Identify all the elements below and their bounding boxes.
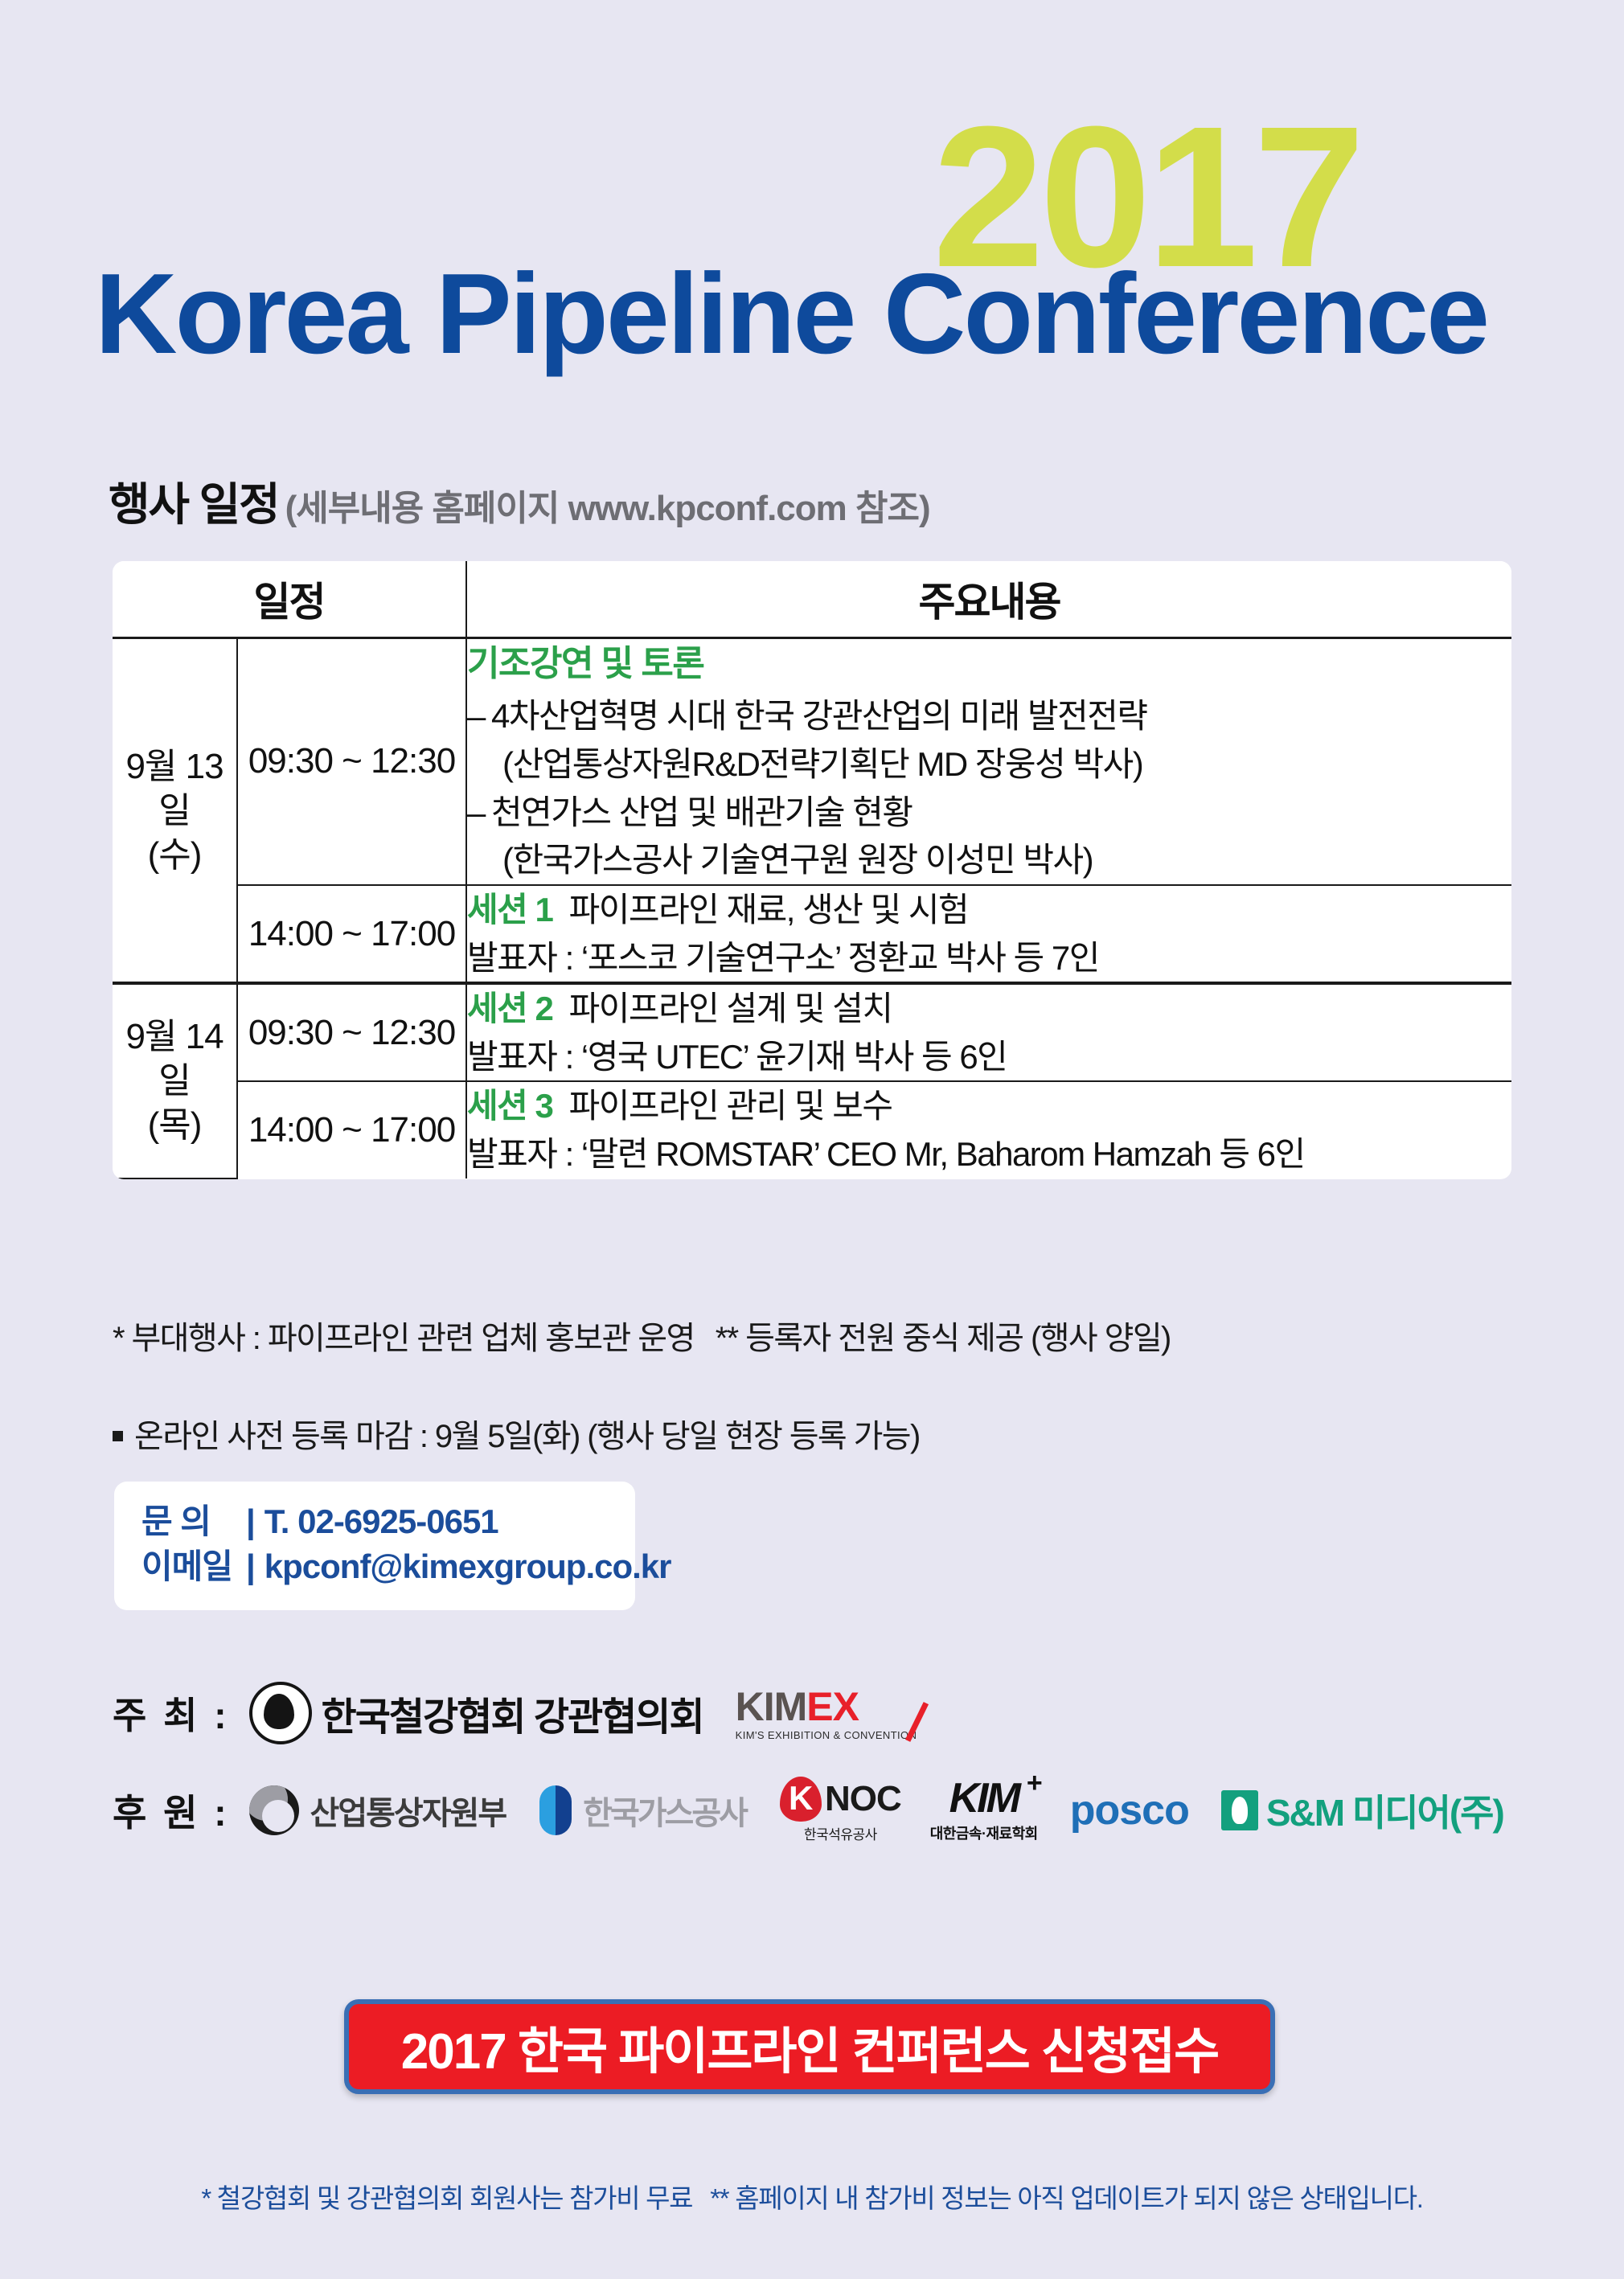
- table-row: 14:00 ~ 17:00 세션 1 파이프라인 재료, 생산 및 시험 발표자…: [113, 885, 1511, 983]
- footer-notes: * 철강협회 및 강관협의회 회원사는 참가비 무료** 홈페이지 내 참가비 …: [0, 2177, 1624, 2215]
- keynote-bullet-1-sub: (산업통상자원R&D전략기획단 MD 장웅성 박사): [467, 740, 1511, 789]
- keynote-bullet-2: –천연가스 산업 및 배관기술 현황: [467, 789, 1511, 837]
- contact-email-label: 이메일: [141, 1544, 236, 1589]
- table-row: 9월 14일 (목) 09:30 ~ 12:30 세션 2 파이프라인 설계 및…: [113, 983, 1511, 1081]
- sponsor-row: 후 원 : 산업통상자원부 한국가스공사 NOC 한국석유공사 KIM + 대한…: [113, 1777, 1503, 1843]
- sm-media-text: S&M 미디어(주): [1266, 1784, 1503, 1837]
- column-header-content: 주요내용: [466, 561, 1511, 638]
- knoc-subtext: 한국석유공사: [804, 1823, 877, 1843]
- kimex-tagline: KIM'S EXHIBITION & CONVENTION: [736, 1730, 917, 1740]
- dash-icon: –: [467, 789, 491, 837]
- date-cell-day1: 9월 13일 (수): [113, 638, 237, 984]
- square-bullet-icon: [113, 1431, 123, 1441]
- session-1-presenter: 발표자 : ‘포스코 기술연구소’ 정환교 박사 등 7인: [467, 934, 1511, 982]
- detail-cell-session-3: 세션 3 파이프라인 관리 및 보수 발표자 : ‘말련 ROMSTAR’ CE…: [466, 1081, 1511, 1178]
- kimex-logo: KIMEX KIM'S EXHIBITION & CONVENTION: [736, 1687, 917, 1740]
- kosa-seal-icon: [249, 1682, 312, 1744]
- session-2-title: 파이프라인 설계 및 설치: [569, 990, 892, 1027]
- host-name: 한국철강협회 강관협의회: [322, 1685, 703, 1741]
- detail-cell-keynote: 기조강연 및 토론 –4차산업혁명 시대 한국 강관산업의 미래 발전전략 (산…: [466, 638, 1511, 885]
- kimex-kim-text: KIM: [736, 1684, 807, 1729]
- session-2-tag: 세션 2: [467, 990, 552, 1027]
- session-2-presenter: 발표자 : ‘영국 UTEC’ 윤기재 박사 등 6인: [467, 1033, 1511, 1081]
- contact-phone-row: 문 의|T. 02-6925-0651: [141, 1499, 611, 1544]
- host-row: 주 최 : 한국철강협회 강관협의회 KIMEX KIM'S EXHIBITIO…: [113, 1682, 917, 1744]
- session-3-tag: 세션 3: [467, 1087, 552, 1125]
- contact-phone-value[interactable]: T. 02-6925-0651: [265, 1502, 498, 1540]
- kim-plus-icon: +: [1027, 1768, 1043, 1799]
- knoc-noc-text: NOC: [825, 1779, 901, 1819]
- keynote-bullet-2-text: 천연가스 산업 및 배관기술 현황: [491, 793, 912, 831]
- session-1-title: 파이프라인 재료, 생산 및 시험: [569, 891, 969, 928]
- kim-wordmark: KIM: [949, 1777, 1019, 1819]
- date-cell-day2: 9월 14일 (목): [113, 983, 237, 1178]
- kimex-wordmark: KIMEX: [736, 1687, 917, 1727]
- session-3-title: 파이프라인 관리 및 보수: [569, 1087, 892, 1125]
- time-cell-d1-morning: 09:30 ~ 12:30: [237, 638, 466, 885]
- session-1-line: 세션 1 파이프라인 재료, 생산 및 시험: [467, 886, 1511, 934]
- session-2-line: 세션 2 파이프라인 설계 및 설치: [467, 985, 1511, 1033]
- keynote-bullet-1-text: 4차산업혁명 시대 한국 강관산업의 미래 발전전략: [491, 697, 1147, 735]
- kimex-ex-text: EX: [806, 1684, 859, 1729]
- keynote-bullet-1: –4차산업혁명 시대 한국 강관산업의 미래 발전전략: [467, 692, 1511, 740]
- column-header-schedule: 일정: [113, 561, 466, 638]
- poster-header: 2017 Korea Pipeline Conference: [0, 0, 1624, 418]
- dash-icon: –: [467, 692, 491, 740]
- schedule-table-wrapper: 일정 주요내용 9월 13일 (수) 09:30 ~ 12:30 기조강연 및 …: [113, 561, 1511, 1179]
- kogas-logo-icon: [539, 1785, 572, 1835]
- weekday-text-day2: (목): [148, 1105, 202, 1145]
- contact-separator: |: [236, 1499, 265, 1544]
- time-cell-d1-afternoon: 14:00 ~ 17:00: [237, 885, 466, 983]
- footer-free-note: * 철강협회 및 강관협의회 회원사는 참가비 무료: [201, 2183, 692, 2213]
- note-lunch-text: ** 등록자 전원 중식 제공 (행사 양일): [716, 1321, 1171, 1356]
- contact-separator: |: [236, 1544, 265, 1589]
- date-text-day1: 9월 13일: [125, 747, 223, 830]
- date-text-day2: 9월 14일: [125, 1017, 223, 1101]
- note-registration-text: 온라인 사전 등록 마감 : 9월 5일(화) (행사 당일 현장 등록 가능): [134, 1419, 920, 1454]
- page-title: Korea Pipeline Conference: [95, 257, 1487, 371]
- knoc-k-icon: [780, 1777, 822, 1822]
- session-3-presenter: 발표자 : ‘말련 ROMSTAR’ CEO Mr, Baharom Hamza…: [467, 1130, 1511, 1178]
- schedule-heading-sub: (세부내용 홈페이지 www.kpconf.com 참조): [285, 489, 930, 528]
- note-extra-text: * 부대행사 : 파이프라인 관련 업체 홍보관 운영: [113, 1321, 695, 1356]
- kim-logo: KIM + 대한금속·재료학회: [930, 1777, 1038, 1843]
- keynote-bullet-2-sub: (한국가스공사 기술연구원 원장 이성민 박사): [467, 836, 1511, 884]
- sponsor-label: 후 원 :: [113, 1784, 230, 1837]
- table-header-row: 일정 주요내용: [113, 561, 1511, 638]
- posco-logo: posco: [1070, 1786, 1189, 1834]
- schedule-heading-strong: 행사 일정: [109, 479, 279, 530]
- kim-subtext: 대한금속·재료학회: [930, 1822, 1038, 1843]
- footer-update-note: ** 홈페이지 내 참가비 정보는 아직 업데이트가 되지 않은 상태입니다.: [710, 2183, 1422, 2213]
- time-cell-d2-morning: 09:30 ~ 12:30: [237, 983, 466, 1081]
- motie-taegeuk-icon: [249, 1785, 299, 1835]
- host-label: 주 최 :: [113, 1687, 230, 1740]
- session-1-tag: 세션 1: [467, 891, 552, 928]
- keynote-title: 기조강연 및 토론: [467, 639, 1511, 689]
- registration-button-label: 2017 한국 파이프라인 컨퍼런스 신청접수: [401, 2011, 1218, 2083]
- table-row: 9월 13일 (수) 09:30 ~ 12:30 기조강연 및 토론 –4차산업…: [113, 638, 1511, 885]
- detail-cell-session-2: 세션 2 파이프라인 설계 및 설치 발표자 : ‘영국 UTEC’ 윤기재 박…: [466, 983, 1511, 1081]
- schedule-table: 일정 주요내용 9월 13일 (수) 09:30 ~ 12:30 기조강연 및 …: [113, 561, 1511, 1179]
- time-cell-d2-afternoon: 14:00 ~ 17:00: [237, 1081, 466, 1178]
- knoc-wordmark: NOC: [780, 1777, 901, 1822]
- sm-media-mark-icon: [1221, 1790, 1258, 1830]
- knoc-logo: NOC 한국석유공사: [780, 1777, 901, 1843]
- sm-media-logo: S&M 미디어(주): [1221, 1784, 1503, 1837]
- contact-email-value[interactable]: kpconf@kimexgroup.co.kr: [265, 1547, 671, 1585]
- contact-box: 문 의|T. 02-6925-0651 이메일|kpconf@kimexgrou…: [114, 1482, 635, 1610]
- detail-cell-session-1: 세션 1 파이프라인 재료, 생산 및 시험 발표자 : ‘포스코 기술연구소’…: [466, 885, 1511, 983]
- note-extra-events: * 부대행사 : 파이프라인 관련 업체 홍보관 운영** 등록자 전원 중식 …: [113, 1312, 1171, 1359]
- contact-phone-label: 문 의: [141, 1499, 236, 1544]
- sponsor-name-motie: 산업통상자원부: [310, 1787, 506, 1834]
- note-registration-deadline: 온라인 사전 등록 마감 : 9월 5일(화) (행사 당일 현장 등록 가능): [113, 1410, 920, 1457]
- table-row: 14:00 ~ 17:00 세션 3 파이프라인 관리 및 보수 발표자 : ‘…: [113, 1081, 1511, 1178]
- schedule-heading: 행사 일정(세부내용 홈페이지 www.kpconf.com 참조): [109, 482, 930, 527]
- session-3-line: 세션 3 파이프라인 관리 및 보수: [467, 1082, 1511, 1130]
- registration-button[interactable]: 2017 한국 파이프라인 컨퍼런스 신청접수: [344, 1999, 1275, 2094]
- sponsor-name-kogas: 한국가스공사: [583, 1787, 746, 1834]
- contact-email-row: 이메일|kpconf@kimexgroup.co.kr: [141, 1544, 611, 1589]
- weekday-text-day1: (수): [148, 835, 202, 875]
